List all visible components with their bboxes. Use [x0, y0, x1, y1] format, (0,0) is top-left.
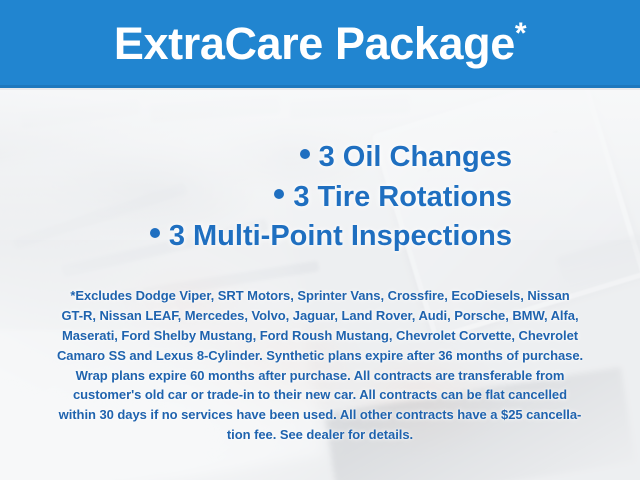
fine-print-line: Camaro SS and Lexus 8-Cylinder. Syntheti…	[28, 346, 612, 366]
page-title-asterisk: *	[515, 17, 526, 50]
fine-print-line: customer's old car or trade-in to their …	[28, 385, 612, 405]
page-title: ExtraCare Package*	[114, 19, 526, 66]
benefits-list: 3 Oil Changes 3 Tire Rotations 3 Multi-P…	[0, 138, 512, 257]
fine-print-line: within 30 days if no services have been …	[28, 405, 612, 425]
benefit-item: 3 Tire Rotations	[0, 178, 512, 218]
bullet-dot-icon	[300, 149, 310, 159]
fine-print-line: GT-R, Nissan LEAF, Mercedes, Volvo, Jagu…	[28, 306, 612, 326]
fine-print-line: *Excludes Dodge Viper, SRT Motors, Sprin…	[28, 286, 612, 306]
benefit-item-label: 3 Tire Rotations	[293, 181, 512, 213]
fine-print-line: tion fee. See dealer for details.	[28, 425, 612, 445]
benefit-item-label: 3 Multi-Point Inspections	[169, 220, 512, 252]
extracare-package-promo-card: ExtraCare Package* 3 Oil Changes 3 Tire …	[0, 0, 640, 480]
fine-print-line: Maserati, Ford Shelby Mustang, Ford Rous…	[28, 326, 612, 346]
fine-print-disclaimer: *Excludes Dodge Viper, SRT Motors, Sprin…	[28, 286, 612, 445]
benefit-item-label: 3 Oil Changes	[319, 141, 512, 173]
benefit-item: 3 Oil Changes	[0, 138, 512, 178]
benefit-item: 3 Multi-Point Inspections	[0, 217, 512, 257]
bullet-dot-icon	[150, 228, 160, 238]
fine-print-line: Wrap plans expire 60 months after purcha…	[28, 366, 612, 386]
bullet-dot-icon	[274, 189, 284, 199]
page-title-text: ExtraCare Package	[114, 18, 515, 69]
header-banner: ExtraCare Package*	[0, 0, 640, 88]
